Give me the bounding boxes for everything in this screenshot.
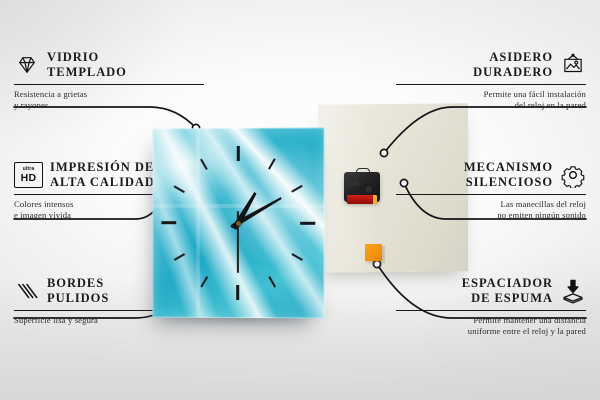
glass-wall-clock [152,128,324,319]
feature-desc-line2: no emiten ningún sonido [497,210,586,220]
gear-icon [560,162,586,188]
feature-description: Permite una fácil instalación del reloj … [396,89,586,113]
glass-edge-highlight [152,128,324,319]
feature-desc-line2: uniforme entre el reloj y la pared [468,326,586,336]
feature-title-line1: IMPRESIÓN DE [50,160,154,174]
battery [347,195,377,204]
picture-hanger-icon [560,52,586,78]
feature-title-line1: MECANISMO [464,160,553,174]
mechanism-slot [348,181,359,186]
feature-asidero-duradero: ASIDERO DURADERO Permite una fácil insta… [396,50,586,112]
feature-mecanismo-silencioso: MECANISMO SILENCIOSO Las manecillas del … [396,160,586,222]
feature-vidrio-templado: VIDRIO TEMPLADO Resistencia a grietas y … [14,50,204,112]
feature-desc-line2: del reloj en la pared [515,100,586,110]
feature-title-line2: DURADERO [473,65,553,79]
feature-title: ESPACIADOR DE ESPUMA [462,276,553,307]
feature-title-line2: ALTA CALIDAD [50,175,155,189]
feature-title-line1: ASIDERO [489,50,553,64]
feature-title-line1: VIDRIO [47,50,99,64]
polished-edges-icon [14,278,40,304]
feature-title-line2: SILENCIOSO [466,175,553,189]
feature-description: Permite mantener una distancia uniforme … [396,315,586,339]
feature-divider [14,84,204,86]
feature-title-line1: ESPACIADOR [462,276,553,290]
feature-title-line2: TEMPLADO [47,65,127,79]
feature-title-line2: PULIDOS [47,291,109,305]
feature-desc-line2: y rayones [14,100,49,110]
feature-title: MECANISMO SILENCIOSO [464,160,553,191]
mechanism-body [344,172,380,202]
battery-positive-tip [373,195,377,204]
feature-divider [396,84,586,86]
feature-desc-line1: Superficie lisa y segura [14,315,98,325]
ultra-hd-icon-main: HD [21,173,37,184]
feature-desc-line1: Resistencia a grietas [14,89,87,99]
feature-description: Las manecillas del reloj no emiten ningú… [396,199,586,223]
feature-title: VIDRIO TEMPLADO [47,50,127,81]
feature-title: ASIDERO DURADERO [473,50,553,81]
feature-desc-line1: Las manecillas del reloj [501,199,586,209]
feature-desc-line1: Colores intensos [14,199,73,209]
feature-title: IMPRESIÓN DE ALTA CALIDAD [50,160,155,191]
feature-description: Resistencia a grietas y rayones [14,89,204,113]
mechanism-dial [364,185,373,194]
feature-desc-line2: e imagen vívida [14,210,71,220]
feature-espaciador-de-espuma: ESPACIADOR DE ESPUMA Permite mantener un… [396,276,586,338]
infographic-canvas: VIDRIO TEMPLADO Resistencia a grietas y … [0,0,600,400]
feature-divider [396,194,586,196]
feature-divider [396,310,586,312]
feature-title: BORDES PULIDOS [47,276,109,307]
feature-title-line2: DE ESPUMA [471,291,553,305]
feature-desc-line1: Permite mantener una distancia [473,315,586,325]
diamond-icon [14,52,40,78]
feature-desc-line1: Permite una fácil instalación [484,89,586,99]
foam-spacer [365,244,382,261]
foam-spacer-icon [560,278,586,304]
feature-title-line1: BORDES [47,276,104,290]
ultra-hd-icon: ultra HD [14,162,43,188]
clock-mechanism [344,168,380,202]
